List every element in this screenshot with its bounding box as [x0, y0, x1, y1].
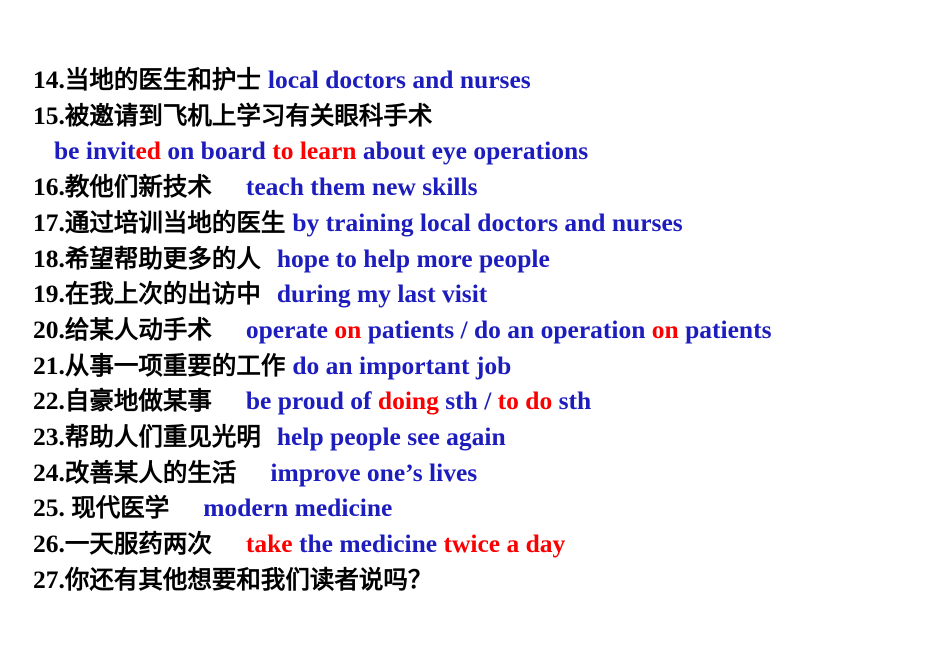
chinese-phrase: 在我上次的出访中: [65, 279, 261, 308]
item-number: 19.: [33, 279, 65, 308]
chinese-phrase: 你还有其他想要和我们读者说吗？: [65, 565, 433, 594]
item-number: 20.: [33, 315, 65, 344]
english-translation: modern medicine: [203, 493, 392, 522]
item-number: 23.: [33, 422, 65, 451]
english-translation: be proud of: [246, 386, 378, 415]
phrase-line: 27.你还有其他想要和我们读者说吗？: [0, 562, 950, 598]
chinese-phrase: 教他们新技术: [65, 172, 212, 201]
phrase-line: be invited on board to learn about eye o…: [0, 133, 950, 169]
english-translation: patients: [679, 315, 772, 344]
slide-canvas: 14.当地的医生和护士local doctors and nurses15.被邀…: [0, 0, 950, 672]
english-translation: local doctors and nurses: [268, 65, 531, 94]
chinese-phrase: 改善某人的生活: [65, 458, 237, 487]
chinese-phrase: 自豪地做某事: [65, 386, 212, 415]
english-translation: improve one’s lives: [270, 458, 477, 487]
phrase-line: 19.在我上次的出访中during my last visit: [0, 276, 950, 312]
item-number: 27.: [33, 565, 65, 594]
english-translation: sth /: [439, 386, 498, 415]
phrase-line: 18.希望帮助更多的人hope to help more people: [0, 241, 950, 277]
phrase-line: 20.给某人动手术operate on patients / do an ope…: [0, 312, 950, 348]
english-highlight: twice a day: [443, 529, 565, 558]
item-number: 21.: [33, 351, 65, 380]
chinese-phrase: 通过培训当地的医生: [65, 208, 286, 237]
english-translation: the medicine: [293, 529, 444, 558]
item-number: 26.: [33, 529, 65, 558]
phrase-line: 17.通过培训当地的医生by training local doctors an…: [0, 205, 950, 241]
item-number: 16.: [33, 172, 65, 201]
phrase-line: 14.当地的医生和护士local doctors and nurses: [0, 62, 950, 98]
phrase-line: 25. 现代医学modern medicine: [0, 490, 950, 526]
chinese-phrase: 当地的医生和护士: [65, 65, 261, 94]
english-translation: be invit: [54, 136, 135, 165]
item-number: 24.: [33, 458, 65, 487]
phrase-line: 16.教他们新技术teach them new skills: [0, 169, 950, 205]
english-translation: patients / do an operation: [361, 315, 651, 344]
chinese-phrase: 现代医学: [71, 493, 169, 522]
chinese-phrase: 给某人动手术: [65, 315, 212, 344]
item-number: 17.: [33, 208, 65, 237]
chinese-phrase: 一天服药两次: [65, 529, 212, 558]
english-highlight: on: [334, 315, 361, 344]
chinese-phrase: 从事一项重要的工作: [65, 351, 286, 380]
english-highlight: doing: [378, 386, 439, 415]
item-number: 25.: [33, 493, 71, 522]
phrase-line: 23.帮助人们重见光明help people see again: [0, 419, 950, 455]
english-translation: do an important job: [292, 351, 511, 380]
english-highlight: take: [246, 529, 293, 558]
english-highlight: to learn: [272, 136, 356, 165]
item-number: 22.: [33, 386, 65, 415]
english-translation: teach them new skills: [246, 172, 478, 201]
item-number: 18.: [33, 244, 65, 273]
phrase-line: 22.自豪地做某事be proud of doing sth / to do s…: [0, 383, 950, 419]
phrase-line: 26.一天服药两次take the medicine twice a day: [0, 526, 950, 562]
phrase-line: 21.从事一项重要的工作do an important job: [0, 348, 950, 384]
chinese-phrase: 被邀请到飞机上学习有关眼科手术: [65, 101, 433, 130]
chinese-phrase: 希望帮助更多的人: [65, 244, 261, 273]
item-number: 15.: [33, 101, 65, 130]
english-translation: hope to help more people: [277, 244, 550, 273]
english-translation: during my last visit: [277, 279, 487, 308]
english-translation: on board: [161, 136, 272, 165]
phrase-line: 24.改善某人的生活improve one’s lives: [0, 455, 950, 491]
phrase-list: 14.当地的医生和护士local doctors and nurses15.被邀…: [0, 62, 950, 598]
item-number: 14.: [33, 65, 65, 94]
english-translation: by training local doctors and nurses: [292, 208, 682, 237]
phrase-line: 15.被邀请到飞机上学习有关眼科手术: [0, 98, 950, 134]
chinese-phrase: 帮助人们重见光明: [65, 422, 261, 451]
english-translation: operate: [246, 315, 335, 344]
english-translation: about eye operations: [357, 136, 589, 165]
english-highlight: to do: [498, 386, 553, 415]
english-translation: sth: [552, 386, 591, 415]
english-highlight: on: [652, 315, 679, 344]
english-translation: help people see again: [277, 422, 506, 451]
english-highlight: ed: [135, 136, 161, 165]
